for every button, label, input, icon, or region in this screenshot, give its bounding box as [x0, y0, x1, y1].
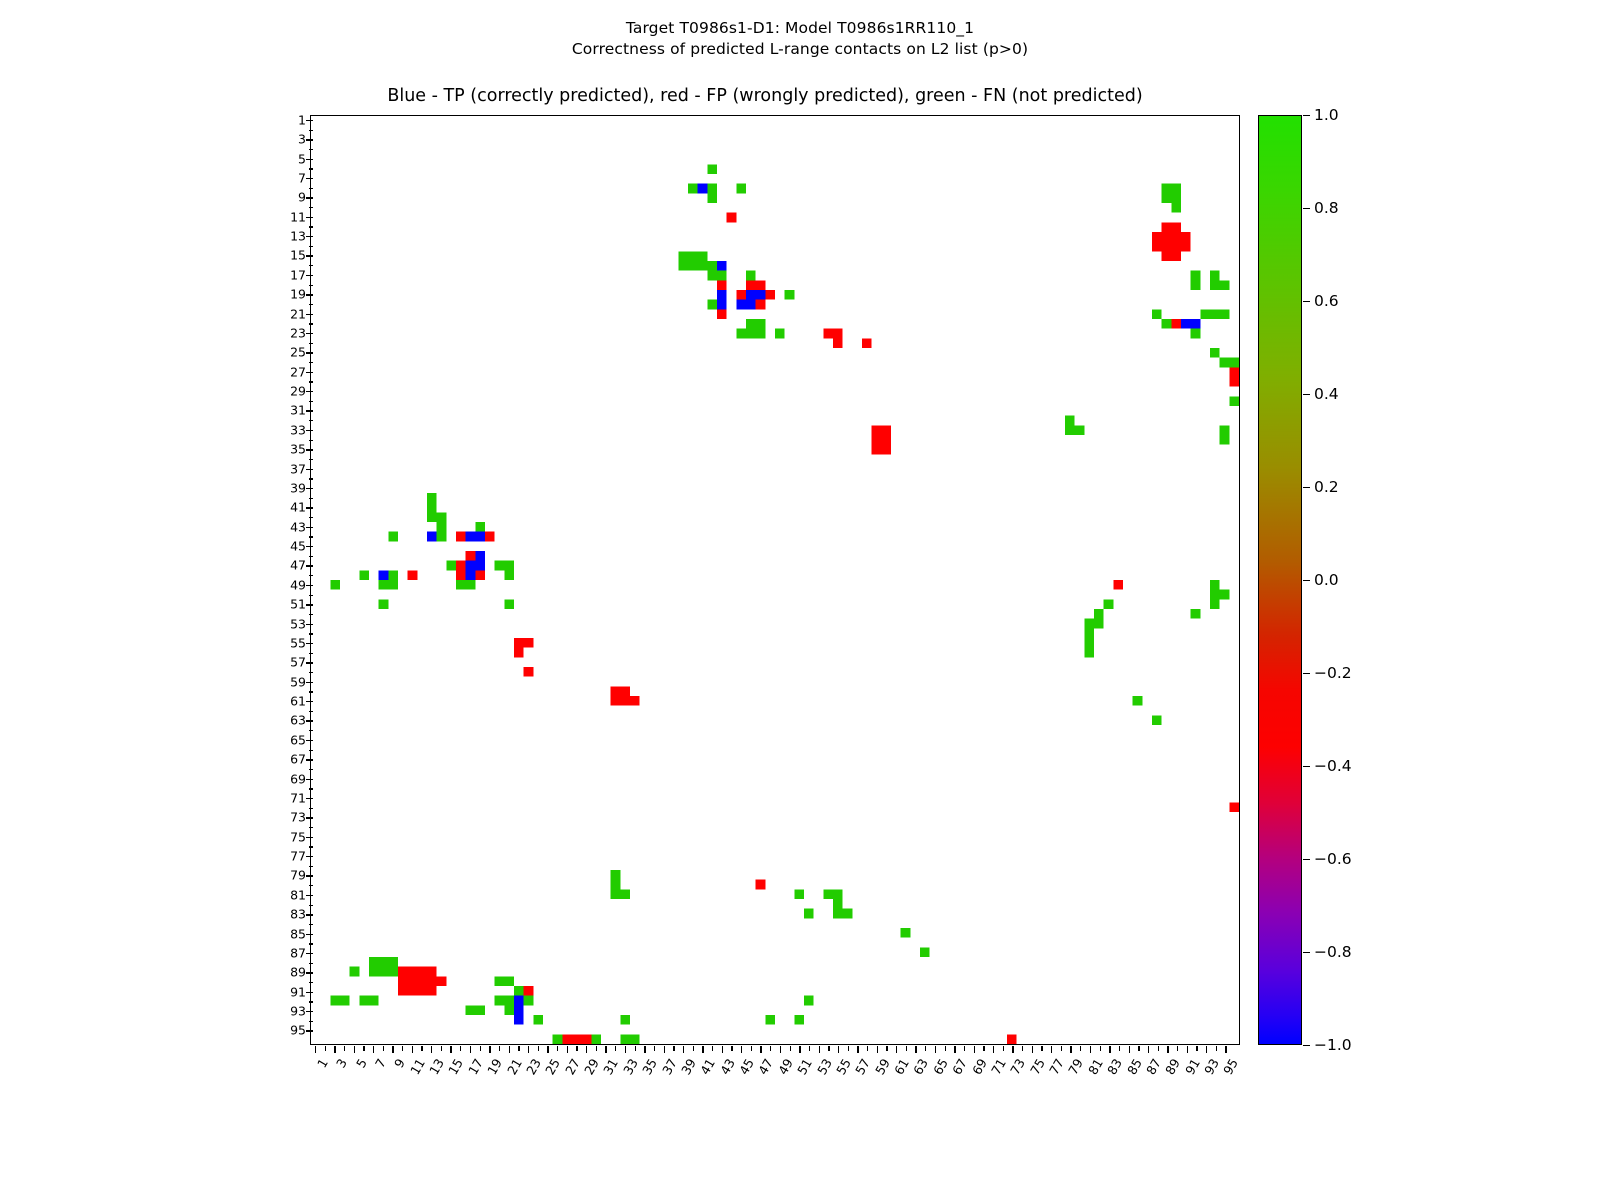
colorbar-tick-label: 0.6 [1314, 292, 1339, 310]
x-tick-label: 3 [333, 1056, 350, 1070]
contact-cell [340, 996, 350, 1006]
x-tick-mark [1061, 1046, 1062, 1051]
y-tick-mark [309, 498, 314, 499]
x-tick-mark [1225, 1046, 1226, 1053]
x-tick-mark [344, 1046, 345, 1051]
y-tick-mark [309, 323, 314, 324]
y-tick-mark [306, 217, 313, 218]
contact-cell [1181, 242, 1191, 252]
y-tick-mark [306, 720, 313, 721]
y-tick-mark [306, 701, 313, 702]
contact-cell [1133, 696, 1143, 706]
colorbar-tick-label: −0.2 [1314, 664, 1352, 682]
y-tick-mark [306, 410, 313, 411]
y-tick-mark [306, 759, 313, 760]
x-tick-mark [383, 1046, 384, 1051]
contact-cell [504, 976, 514, 986]
colorbar-tick-label: 0.2 [1314, 478, 1339, 496]
colorbar: 1.00.80.60.40.20.0−0.2−0.4−0.6−0.8−1.0 [1258, 115, 1302, 1045]
contact-cell [1152, 242, 1162, 252]
y-tick-mark [309, 149, 314, 150]
contact-cell [379, 570, 389, 580]
y-tick-mark [309, 440, 314, 441]
y-tick-mark [306, 139, 313, 140]
contact-cell [475, 551, 485, 561]
y-tick-label: 65 [290, 732, 306, 747]
x-tick-label: 15 [446, 1056, 467, 1077]
x-tick-mark [809, 1046, 810, 1051]
contact-cell [1084, 648, 1094, 658]
contact-cell [1200, 309, 1210, 319]
y-tick-label: 75 [290, 829, 306, 844]
contact-map-matrix[interactable] [311, 116, 1239, 1044]
contact-cell [437, 976, 447, 986]
contact-cell [785, 290, 795, 300]
colorbar-tick [1303, 301, 1310, 302]
y-tick-label: 35 [290, 442, 306, 457]
contact-cell [707, 261, 717, 271]
colorbar-tick-label: −0.4 [1314, 757, 1352, 775]
x-tick-mark [431, 1046, 432, 1053]
x-tick-mark [741, 1046, 742, 1053]
contact-cell [833, 329, 843, 339]
contact-cell [1152, 715, 1162, 725]
contact-cell [582, 1034, 592, 1044]
contact-cell [736, 329, 746, 339]
x-tick-mark [392, 1046, 393, 1053]
contact-cell [1191, 271, 1201, 281]
x-tick-mark [605, 1046, 606, 1053]
y-tick-mark [306, 875, 313, 876]
y-tick-mark [306, 914, 313, 915]
x-tick-mark [760, 1046, 761, 1053]
y-tick-mark [306, 372, 313, 373]
colorbar-tick [1303, 1045, 1310, 1046]
contact-cell [765, 290, 775, 300]
y-tick-mark [306, 294, 313, 295]
y-tick-mark [306, 275, 313, 276]
contact-cell [398, 986, 408, 996]
colorbar-tick-label: 0.4 [1314, 385, 1339, 403]
x-tick-mark [799, 1046, 800, 1053]
y-tick-mark [309, 691, 314, 692]
contact-cell [775, 329, 785, 339]
y-tick-mark [306, 314, 313, 315]
x-tick-mark [1148, 1046, 1149, 1053]
y-tick-label: 9 [298, 190, 306, 205]
x-tick-mark [993, 1046, 994, 1053]
contact-cell [475, 522, 485, 532]
y-tick-label: 71 [290, 790, 306, 805]
contact-map-plot[interactable] [310, 115, 1240, 1045]
colorbar-tick [1303, 208, 1310, 209]
x-tick-mark [576, 1046, 577, 1051]
y-tick-label: 29 [290, 384, 306, 399]
contact-cell [427, 986, 437, 996]
y-tick-mark [306, 992, 313, 993]
contact-cell [1220, 358, 1230, 368]
y-axis: 1357911131517192123252729313335373941434… [262, 115, 306, 1045]
contact-cell [862, 338, 872, 348]
x-tick-mark [567, 1046, 568, 1053]
contact-cell [330, 996, 340, 1006]
x-tick-label: 27 [562, 1056, 583, 1077]
contact-cell [524, 638, 534, 648]
contact-cell [504, 996, 514, 1006]
y-tick-mark [306, 449, 313, 450]
contact-cell [408, 967, 418, 977]
y-tick-mark [306, 236, 313, 237]
x-tick-mark [751, 1046, 752, 1051]
contact-cell [514, 1005, 524, 1015]
y-tick-mark [306, 565, 313, 566]
x-tick-mark [1041, 1046, 1042, 1051]
contact-cell [756, 329, 766, 339]
contact-cell [611, 889, 621, 899]
y-tick-mark [306, 856, 313, 857]
x-tick-label: 91 [1182, 1056, 1203, 1077]
y-tick-label: 55 [290, 635, 306, 650]
y-tick-label: 23 [290, 325, 306, 340]
contact-cell [369, 996, 379, 1006]
x-tick-mark [954, 1046, 955, 1053]
contact-cell [620, 696, 630, 706]
x-tick-label: 29 [581, 1056, 602, 1077]
contact-cell [485, 532, 495, 542]
contact-cell [1229, 802, 1239, 812]
contact-cell [823, 329, 833, 339]
contact-cell [379, 599, 389, 609]
x-tick-mark [964, 1046, 965, 1051]
y-tick-label: 81 [290, 887, 306, 902]
contact-cell [746, 290, 756, 300]
contact-cell [379, 967, 389, 977]
y-tick-mark [309, 1001, 314, 1002]
contact-cell [330, 580, 340, 590]
y-tick-mark [309, 575, 314, 576]
contact-cell [388, 570, 398, 580]
contact-cell [495, 976, 505, 986]
contact-cell [524, 996, 534, 1006]
contact-cell [1104, 599, 1114, 609]
x-tick-label: 83 [1104, 1056, 1125, 1077]
contact-cell [1171, 232, 1181, 242]
y-tick-mark [306, 1011, 313, 1012]
contact-cell [1113, 580, 1123, 590]
contact-cell [833, 338, 843, 348]
x-tick-label: 53 [814, 1056, 835, 1077]
colorbar-tick-label: 0.8 [1314, 199, 1339, 217]
colorbar-tick-label: −0.8 [1314, 943, 1352, 961]
y-tick-label: 1 [298, 112, 306, 127]
x-tick-mark [1187, 1046, 1188, 1053]
x-tick-mark [644, 1046, 645, 1053]
contact-cell [475, 561, 485, 571]
x-tick-mark [625, 1046, 626, 1053]
contact-cell [698, 251, 708, 261]
contact-cell [427, 976, 437, 986]
contact-cell [1171, 203, 1181, 213]
x-tick-label: 51 [794, 1056, 815, 1077]
x-tick-label: 77 [1046, 1056, 1067, 1077]
x-tick-mark [499, 1046, 500, 1051]
contact-cell [746, 319, 756, 329]
x-tick-mark [731, 1046, 732, 1051]
y-tick-mark [306, 255, 313, 256]
y-tick-label: 45 [290, 539, 306, 554]
x-tick-mark [1032, 1046, 1033, 1053]
contact-cell [611, 870, 621, 880]
y-tick-label: 33 [290, 422, 306, 437]
contact-cell [1171, 242, 1181, 252]
contact-cell [369, 957, 379, 967]
contact-cell [359, 996, 369, 1006]
x-tick-label: 57 [852, 1056, 873, 1077]
x-tick-mark [325, 1046, 326, 1051]
contact-cell [553, 1034, 563, 1044]
y-tick-mark [309, 265, 314, 266]
contact-cell [746, 329, 756, 339]
x-tick-label: 33 [620, 1056, 641, 1077]
x-tick-mark [857, 1046, 858, 1053]
contact-cell [688, 184, 698, 194]
y-tick-mark [306, 953, 313, 954]
contact-cell [756, 880, 766, 890]
contact-cell [872, 445, 882, 455]
contact-cell [1065, 416, 1075, 426]
contact-cell [611, 880, 621, 890]
contact-cell [562, 1034, 572, 1044]
contact-cell [620, 1015, 630, 1025]
x-tick-mark [470, 1046, 471, 1053]
x-tick-label: 87 [1143, 1056, 1164, 1077]
y-tick-mark [306, 779, 313, 780]
y-tick-mark [306, 546, 313, 547]
contact-cell [388, 532, 398, 542]
x-tick-mark [615, 1046, 616, 1051]
contact-cell [1210, 309, 1220, 319]
x-tick-mark [654, 1046, 655, 1051]
y-tick-mark [309, 1021, 314, 1022]
contact-cell [437, 512, 447, 522]
y-tick-label: 7 [298, 170, 306, 185]
y-tick-label: 69 [290, 771, 306, 786]
colorbar-tick-label: −0.6 [1314, 850, 1352, 868]
contact-cell [833, 889, 843, 899]
y-tick-mark [306, 895, 313, 896]
contact-cell [823, 889, 833, 899]
x-tick-label: 17 [465, 1056, 486, 1077]
contact-cell [833, 909, 843, 919]
x-tick-mark [363, 1046, 364, 1051]
contact-cell [1007, 1034, 1017, 1044]
x-tick-label: 75 [1027, 1056, 1048, 1077]
contact-cell [630, 696, 640, 706]
y-tick-label: 85 [290, 926, 306, 941]
contact-cell [717, 309, 727, 319]
x-tick-mark [1022, 1046, 1023, 1051]
x-tick-label: 19 [484, 1056, 505, 1077]
x-tick-mark [838, 1046, 839, 1053]
x-tick-mark [819, 1046, 820, 1053]
y-tick-label: 91 [290, 984, 306, 999]
contact-cell [514, 996, 524, 1006]
contact-cell [1171, 222, 1181, 232]
contact-cell [408, 570, 418, 580]
colorbar-tick [1303, 952, 1310, 953]
y-tick-mark [309, 653, 314, 654]
contact-cell [736, 300, 746, 310]
contact-cell [427, 493, 437, 503]
y-tick-mark [309, 304, 314, 305]
contact-cell [1084, 638, 1094, 648]
contact-cell [398, 976, 408, 986]
contact-cell [514, 986, 524, 996]
contact-cell [1152, 309, 1162, 319]
x-tick-mark [480, 1046, 481, 1051]
x-tick-mark [906, 1046, 907, 1051]
contact-cell [756, 319, 766, 329]
x-axis: 1357911131517192123252729313335373941434… [310, 1046, 1240, 1166]
x-tick-label: 71 [988, 1056, 1009, 1077]
contact-cell [379, 957, 389, 967]
contact-cell [1171, 184, 1181, 194]
contact-cell [833, 899, 843, 909]
y-tick-mark [309, 420, 314, 421]
x-tick-label: 73 [1007, 1056, 1028, 1077]
x-tick-label: 37 [659, 1056, 680, 1077]
contact-cell [1162, 193, 1172, 203]
x-tick-label: 65 [930, 1056, 951, 1077]
y-tick-mark [309, 750, 314, 751]
contact-cell [437, 522, 447, 532]
colorbar-gradient [1258, 115, 1302, 1045]
contact-cell [524, 667, 534, 677]
x-tick-mark [421, 1046, 422, 1051]
x-tick-label: 59 [872, 1056, 893, 1077]
x-tick-mark [790, 1046, 791, 1051]
x-tick-mark [828, 1046, 829, 1051]
y-tick-label: 47 [290, 558, 306, 573]
y-tick-mark [306, 682, 313, 683]
contact-cell [466, 532, 476, 542]
colorbar-tick [1303, 394, 1310, 395]
colorbar-tick [1303, 859, 1310, 860]
y-tick-mark [306, 798, 313, 799]
colorbar-tick [1303, 766, 1310, 767]
x-tick-mark [935, 1046, 936, 1053]
y-tick-mark [306, 624, 313, 625]
contact-cell [1191, 280, 1201, 290]
contact-cell [1210, 348, 1220, 358]
colorbar-tick-label: 0.0 [1314, 571, 1339, 589]
contact-cell [804, 996, 814, 1006]
colorbar-tick-label: 1.0 [1314, 106, 1339, 124]
contact-cell [1210, 580, 1220, 590]
contact-cell [1094, 619, 1104, 629]
title-line-2: Correctness of predicted L-range contact… [0, 39, 1600, 60]
contact-cell [843, 909, 853, 919]
y-tick-mark [309, 730, 314, 731]
y-tick-mark [306, 178, 313, 179]
x-tick-mark [489, 1046, 490, 1053]
y-tick-mark [309, 827, 314, 828]
y-tick-mark [309, 614, 314, 615]
y-tick-mark [309, 343, 314, 344]
y-tick-label: 13 [290, 229, 306, 244]
y-tick-mark [309, 808, 314, 809]
contact-cell [1162, 232, 1172, 242]
contact-cell [707, 184, 717, 194]
y-tick-mark [306, 430, 313, 431]
x-tick-label: 43 [717, 1056, 738, 1077]
colorbar-tick [1303, 487, 1310, 488]
x-tick-label: 39 [678, 1056, 699, 1077]
colorbar-tick [1303, 115, 1310, 116]
contact-cell [678, 261, 688, 271]
contact-cell [1181, 319, 1191, 329]
x-tick-mark [518, 1046, 519, 1051]
y-tick-mark [309, 595, 314, 596]
y-tick-label: 49 [290, 577, 306, 592]
x-tick-label: 23 [523, 1056, 544, 1077]
contact-cell [746, 300, 756, 310]
x-tick-label: 7 [372, 1056, 389, 1070]
y-tick-mark [306, 643, 313, 644]
contact-cell [1210, 271, 1220, 281]
contact-cell [427, 512, 437, 522]
contact-cell [707, 193, 717, 203]
y-tick-label: 63 [290, 713, 306, 728]
contact-cell [1220, 280, 1230, 290]
y-tick-label: 25 [290, 345, 306, 360]
y-tick-mark [309, 556, 314, 557]
y-tick-mark [306, 507, 313, 508]
contact-cell [736, 184, 746, 194]
contact-cell [456, 561, 466, 571]
x-tick-label: 61 [891, 1056, 912, 1077]
y-tick-mark [306, 817, 313, 818]
contact-cell [427, 967, 437, 977]
y-tick-label: 43 [290, 519, 306, 534]
x-tick-mark [983, 1046, 984, 1051]
contact-cell [756, 280, 766, 290]
x-tick-mark [1100, 1046, 1101, 1051]
colorbar-tick [1303, 673, 1310, 674]
title-line-1: Target T0986s1-D1: Model T0986s1RR110_1 [0, 18, 1600, 39]
y-tick-label: 27 [290, 364, 306, 379]
y-tick-mark [306, 159, 313, 160]
contact-cell [678, 251, 688, 261]
y-tick-label: 51 [290, 597, 306, 612]
contact-cell [417, 986, 427, 996]
y-tick-label: 31 [290, 403, 306, 418]
x-tick-mark [412, 1046, 413, 1053]
y-tick-mark [309, 885, 314, 886]
y-tick-mark [309, 130, 314, 131]
y-tick-mark [306, 197, 313, 198]
y-tick-mark [309, 866, 314, 867]
x-tick-mark [1167, 1046, 1168, 1053]
contact-cell [1162, 251, 1172, 261]
y-tick-mark [309, 769, 314, 770]
contact-cell [717, 300, 727, 310]
contact-cell [1220, 590, 1230, 600]
x-tick-label: 13 [426, 1056, 447, 1077]
contact-cell [765, 1015, 775, 1025]
x-tick-mark [673, 1046, 674, 1051]
y-tick-mark [306, 1030, 313, 1031]
